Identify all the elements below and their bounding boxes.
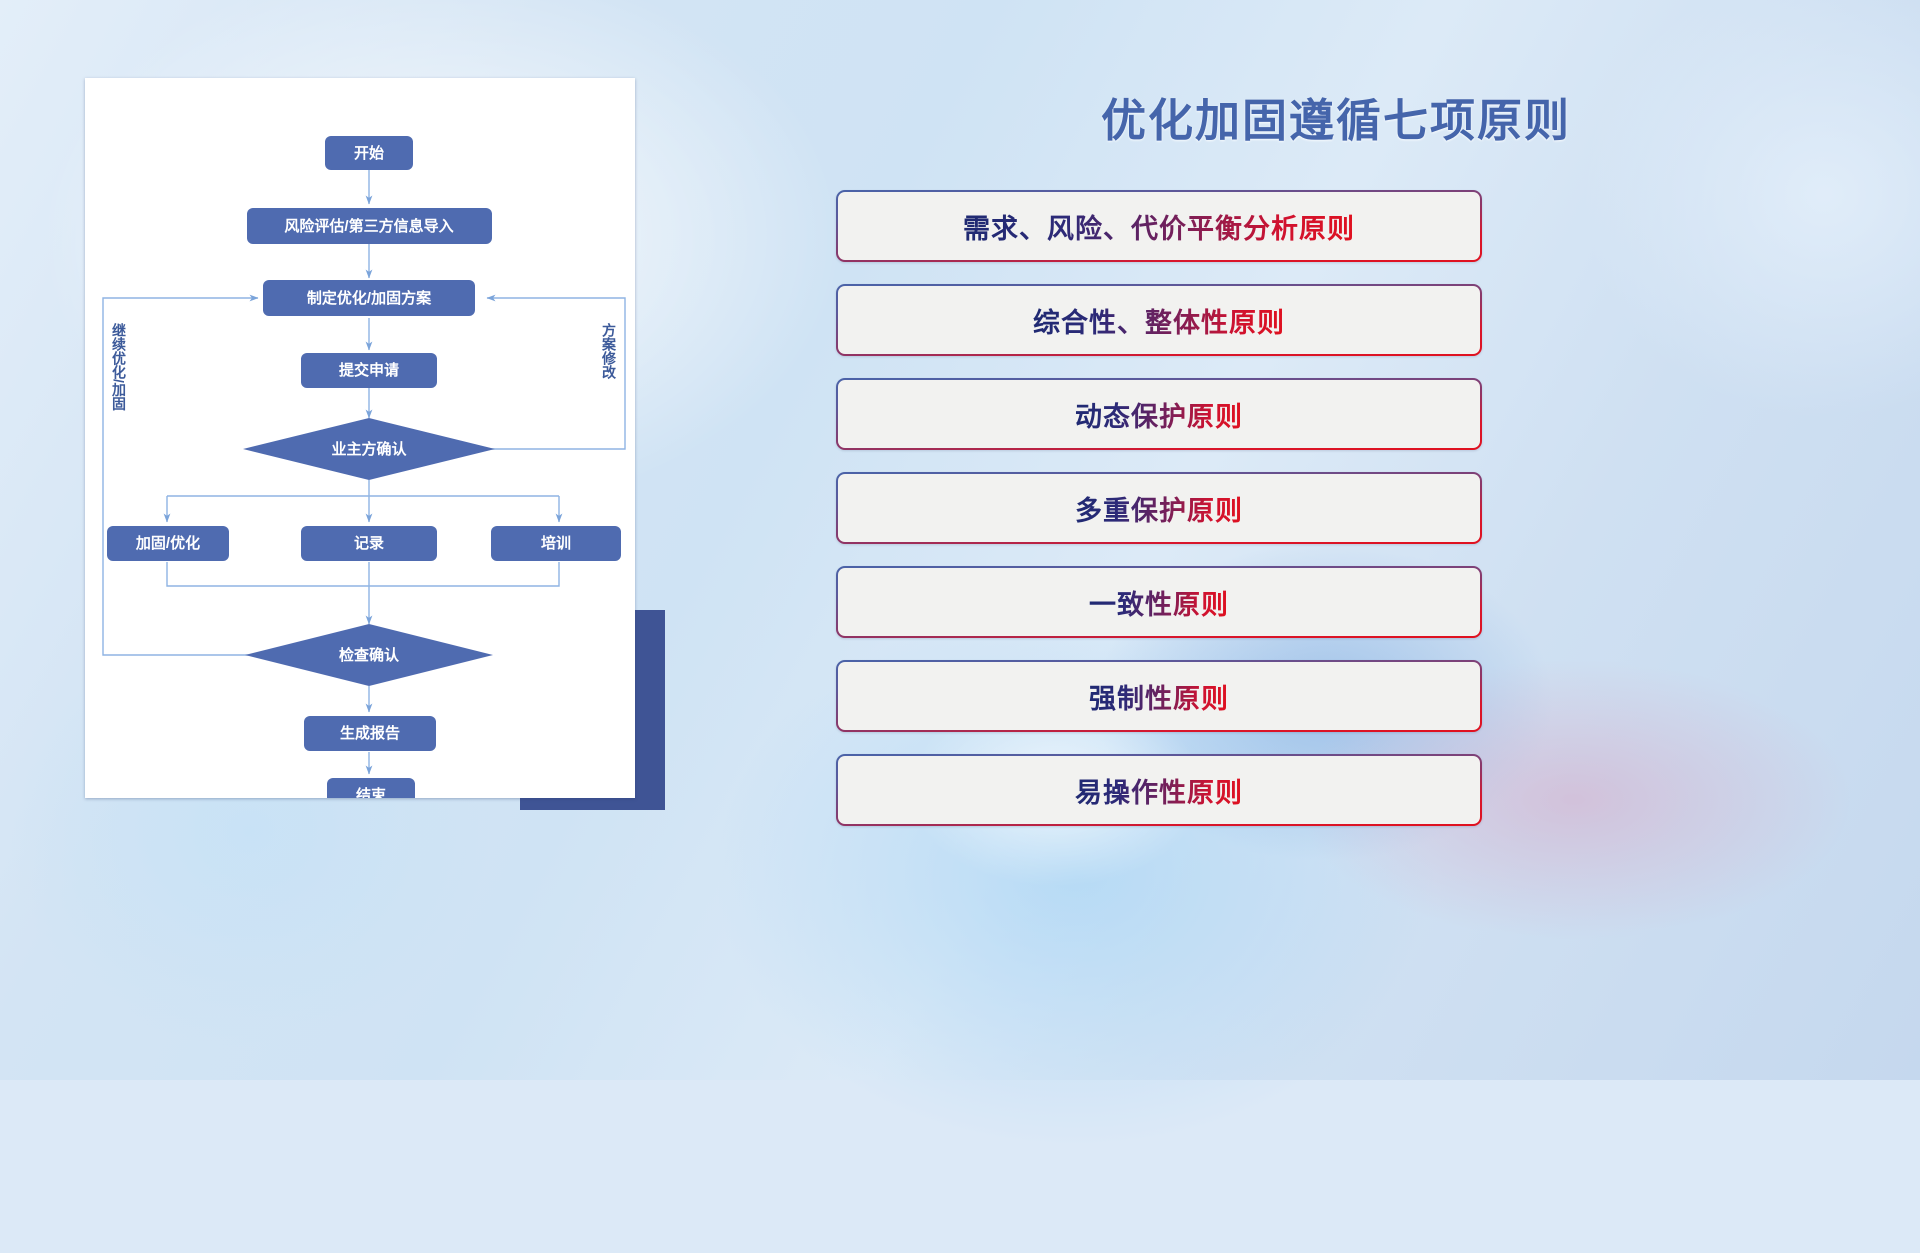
flow-node-end[interactable]: 结束 — [327, 778, 415, 798]
principles-panel: 优化加固遵循七项原则 需求、风险、代价平衡分析原则 综合性、整体性原则 动态保护… — [836, 0, 1896, 1080]
flow-node-owner-confirm[interactable]: 业主方确认 — [243, 418, 495, 480]
flow-node-train-label: 培训 — [541, 534, 571, 552]
principle-card-label: 强制性原则 — [1089, 677, 1229, 716]
principle-card[interactable]: 一致性原则 — [836, 566, 1482, 638]
principle-card[interactable]: 多重保护原则 — [836, 472, 1482, 544]
flow-node-reinforce-label: 加固/优化 — [135, 534, 200, 552]
principle-card[interactable]: 需求、风险、代价平衡分析原则 — [836, 190, 1482, 262]
flow-node-owner-confirm-label: 业主方确认 — [331, 440, 407, 458]
flow-node-submit-label: 提交申请 — [339, 361, 399, 379]
flow-node-plan-label: 制定优化/加固方案 — [307, 289, 432, 307]
flow-node-report-label: 生成报告 — [340, 724, 400, 742]
edge-loop-right — [431, 298, 625, 449]
flow-node-risk[interactable]: 风险评估/第三方信息导入 — [247, 208, 492, 244]
principles-list: 需求、风险、代价平衡分析原则 综合性、整体性原则 动态保护原则 多重保护原则 一… — [836, 190, 1896, 848]
principle-card[interactable]: 强制性原则 — [836, 660, 1482, 732]
principle-card-label: 易操作性原则 — [1075, 771, 1243, 810]
flow-node-check-label: 检查确认 — [339, 646, 400, 664]
principle-card-label: 需求、风险、代价平衡分析原则 — [963, 207, 1355, 246]
principle-card[interactable]: 易操作性原则 — [836, 754, 1482, 826]
flow-node-end-label: 结束 — [356, 786, 387, 798]
flow-edge-label-continue-optimize: 继续优化/加固 — [111, 322, 127, 412]
flow-node-reinforce[interactable]: 加固/优化 — [107, 526, 229, 561]
flow-node-record[interactable]: 记录 — [301, 526, 437, 561]
flow-node-start-label: 开始 — [354, 144, 384, 162]
flowchart-diagram: 开始 风险评估/第三方信息导入 制定优化/加固方案 提交申请 业主方确认 加固/ — [85, 78, 635, 798]
flow-edge-label-plan-revision: 方案修改 — [601, 322, 617, 380]
edge-merge-bus — [167, 562, 559, 586]
principle-card[interactable]: 动态保护原则 — [836, 378, 1482, 450]
flowchart-nodes: 开始 风险评估/第三方信息导入 制定优化/加固方案 提交申请 业主方确认 加固/ — [107, 136, 621, 798]
flow-node-report[interactable]: 生成报告 — [304, 716, 436, 751]
principle-card-label: 综合性、整体性原则 — [1033, 301, 1285, 340]
flow-node-check[interactable]: 检查确认 — [245, 624, 493, 686]
principle-card[interactable]: 综合性、整体性原则 — [836, 284, 1482, 356]
flow-node-train[interactable]: 培训 — [491, 526, 621, 561]
edge-loop-left — [103, 298, 307, 655]
flowchart-panel: 开始 风险评估/第三方信息导入 制定优化/加固方案 提交申请 业主方确认 加固/ — [85, 70, 665, 810]
principle-card-label: 一致性原则 — [1089, 583, 1229, 622]
principle-card-label: 多重保护原则 — [1075, 489, 1243, 528]
page-title: 优化加固遵循七项原则 — [836, 84, 1836, 149]
flow-node-plan[interactable]: 制定优化/加固方案 — [263, 280, 475, 316]
flow-node-record-label: 记录 — [354, 535, 384, 552]
flow-node-start[interactable]: 开始 — [325, 136, 413, 170]
flow-node-submit[interactable]: 提交申请 — [301, 353, 437, 388]
flow-node-risk-label: 风险评估/第三方信息导入 — [284, 217, 453, 235]
principle-card-label: 动态保护原则 — [1075, 395, 1243, 434]
